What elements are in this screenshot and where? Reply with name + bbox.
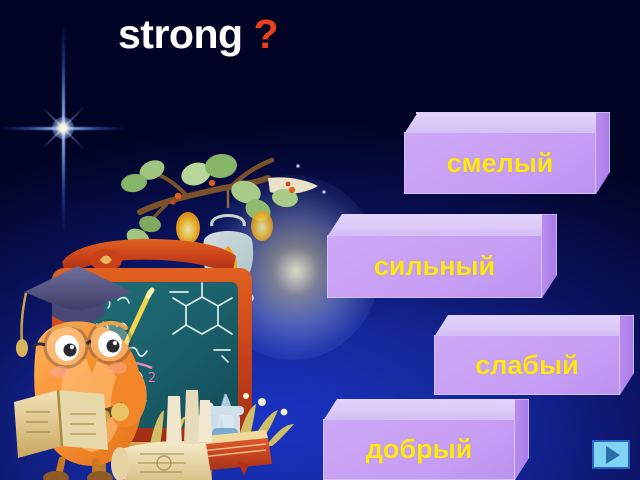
answer-1-front-face[interactable]: смелый — [404, 132, 596, 194]
answer-4-top-face — [323, 399, 529, 421]
title-word: strong — [118, 11, 243, 57]
answer-4-label: добрый — [366, 436, 472, 463]
answer-button-3[interactable]: слабый — [434, 315, 634, 395]
answer-2-top-face — [327, 214, 557, 237]
play-triangle-icon — [606, 446, 620, 464]
answer-1-label: смелый — [447, 150, 554, 177]
answer-2-label: сильный — [374, 253, 495, 280]
answer-3-front-face[interactable]: слабый — [434, 335, 620, 395]
svg-text:2: 2 — [148, 371, 156, 386]
answer-button-1[interactable]: смелый — [404, 112, 610, 194]
answer-4-front-face[interactable]: добрый — [323, 419, 515, 480]
next-slide-button[interactable] — [592, 440, 630, 469]
answer-3-label: слабый — [475, 352, 579, 379]
answer-3-top-face — [434, 315, 634, 337]
answer-button-2[interactable]: сильный — [327, 214, 557, 298]
answer-1-top-face — [404, 112, 610, 134]
owl-classroom-illustration: 2 — [0, 150, 360, 480]
page-title: strong ? — [118, 11, 278, 58]
answer-button-4[interactable]: добрый — [323, 399, 529, 480]
title-question-mark: ? — [253, 11, 278, 57]
answer-2-front-face[interactable]: сильный — [327, 235, 542, 298]
slide-canvas: strong ? — [0, 0, 640, 480]
